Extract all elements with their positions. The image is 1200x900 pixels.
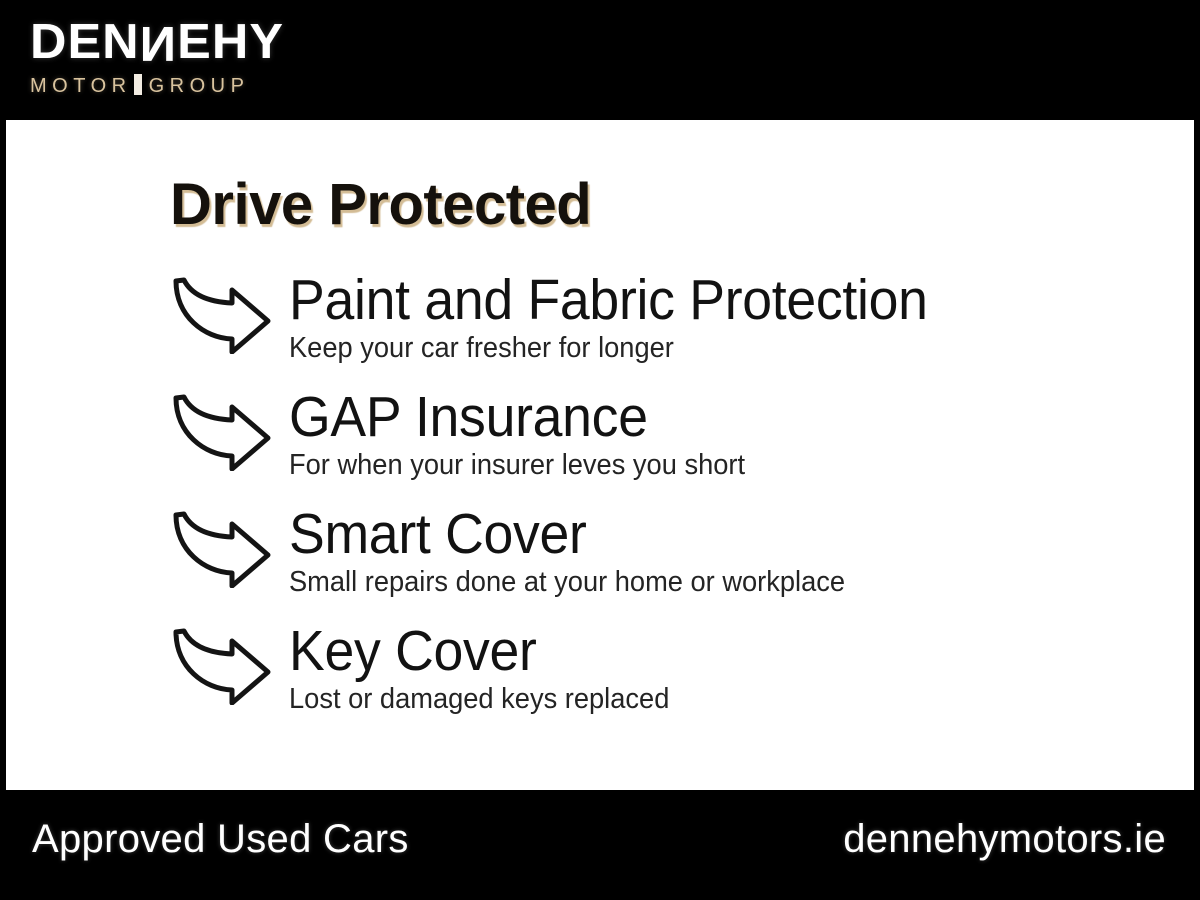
logo-subtitle: MOTORGROUP bbox=[30, 74, 330, 96]
page-title: Drive Protected bbox=[170, 176, 591, 234]
feature-heading: Key Cover bbox=[289, 621, 669, 682]
feature-text-block: Smart Cover Small repairs done at your h… bbox=[289, 504, 881, 599]
banner-header: DENNEHY MOTORGROUP bbox=[0, 0, 1200, 120]
feature-subtext: Keep your car fresher for longer bbox=[289, 333, 928, 365]
feature-text-block: GAP Insurance For when your insurer leve… bbox=[289, 387, 774, 482]
feature-subtext: For when your insurer leves you short bbox=[289, 450, 745, 482]
logo-wordmark: DENNEHY bbox=[30, 18, 339, 67]
feature-heading: Paint and Fabric Protection bbox=[289, 270, 928, 331]
curved-arrow-right-icon bbox=[170, 276, 274, 354]
footer-website: dennehymotors.ie bbox=[843, 817, 1166, 862]
promotional-banner: DENNEHY MOTORGROUP Drive Protected Paint… bbox=[0, 0, 1200, 900]
banner-footer: Approved Used Cars dennehymotors.ie bbox=[0, 790, 1200, 900]
content-panel: Drive Protected Paint and Fabric Protect… bbox=[6, 120, 1194, 790]
logo-wordmark-part1: DEN bbox=[30, 15, 140, 69]
feature-subtext: Small repairs done at your home or workp… bbox=[289, 567, 845, 599]
logo-wordmark-flipped-n: N bbox=[140, 18, 177, 67]
dennehy-motor-group-logo: DENNEHY MOTORGROUP bbox=[30, 18, 330, 96]
feature-text-block: Key Cover Lost or damaged keys replaced bbox=[289, 621, 694, 716]
curved-arrow-right-icon bbox=[170, 627, 274, 705]
feature-text-block: Paint and Fabric Protection Keep your ca… bbox=[289, 270, 968, 365]
list-item: GAP Insurance For when your insurer leve… bbox=[6, 387, 1194, 504]
logo-subtitle-group: GROUP bbox=[149, 75, 250, 97]
list-item: Smart Cover Small repairs done at your h… bbox=[6, 504, 1194, 621]
feature-heading: Smart Cover bbox=[289, 504, 845, 565]
curved-arrow-right-icon bbox=[170, 510, 274, 588]
list-item: Paint and Fabric Protection Keep your ca… bbox=[6, 270, 1194, 387]
feature-subtext: Lost or damaged keys replaced bbox=[289, 684, 669, 716]
curved-arrow-right-icon bbox=[170, 393, 274, 471]
list-item: Key Cover Lost or damaged keys replaced bbox=[6, 621, 1194, 738]
feature-list: Paint and Fabric Protection Keep your ca… bbox=[6, 270, 1194, 738]
logo-subtitle-motor: MOTOR bbox=[30, 75, 132, 97]
logo-wordmark-part2: EHY bbox=[177, 15, 284, 69]
feature-heading: GAP Insurance bbox=[289, 387, 745, 448]
logo-divider-bar bbox=[134, 74, 142, 95]
footer-tagline: Approved Used Cars bbox=[32, 817, 409, 862]
